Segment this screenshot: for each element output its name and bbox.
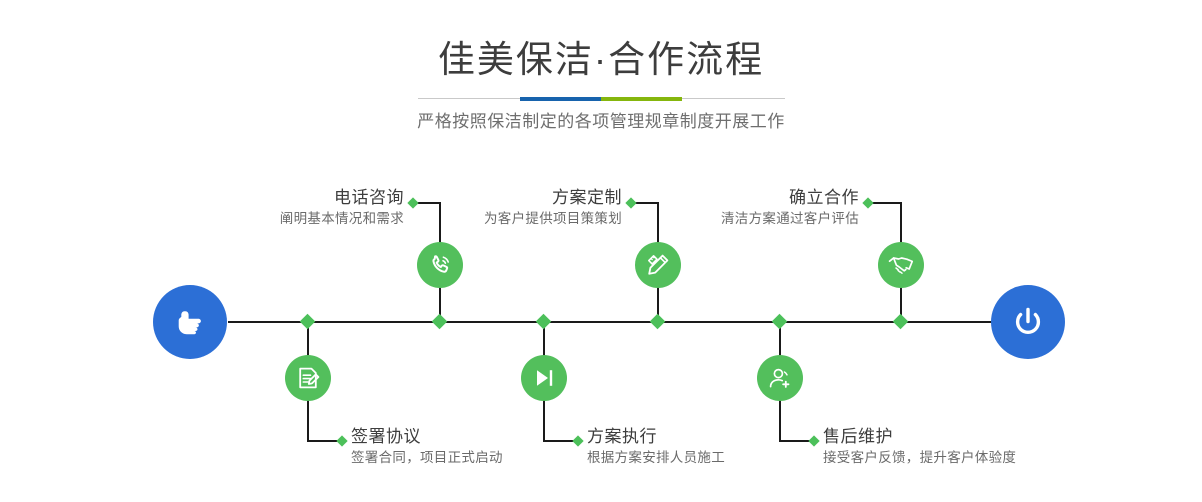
step-icon-2	[285, 355, 331, 401]
label-diamond-1	[407, 197, 418, 208]
step-icon-6	[757, 355, 803, 401]
step-title-2: 签署协议	[351, 426, 503, 447]
axis-diamond-4	[536, 314, 552, 330]
label-diamond-3	[625, 197, 636, 208]
step-title-5: 确立合作	[682, 187, 859, 208]
step-desc-6: 接受客户反馈，提升客户体验度	[823, 449, 1016, 467]
step-icon-1	[417, 242, 463, 288]
step-title-3: 方案定制	[447, 187, 622, 208]
step-desc-3: 为客户提供项目策策划	[447, 210, 622, 228]
timeline-axis	[228, 321, 993, 323]
label-diamond-6	[808, 435, 819, 446]
label-diamond-5	[862, 197, 873, 208]
step-title-4: 方案执行	[587, 426, 725, 447]
step-desc-4: 根据方案安排人员施工	[587, 449, 725, 467]
document-edit-icon	[294, 364, 322, 392]
step-label-4: 方案执行 根据方案安排人员施工	[587, 426, 725, 467]
step-label-1: 电话咨询 阐明基本情况和需求	[229, 187, 404, 228]
axis-diamond-5	[893, 314, 909, 330]
pencil-ruler-icon	[644, 251, 672, 279]
step-desc-2: 签署合同，项目正式启动	[351, 449, 503, 467]
handshake-icon	[887, 251, 915, 279]
step-title-1: 电话咨询	[229, 187, 404, 208]
customer-support-icon	[766, 364, 794, 392]
step-icon-4	[521, 355, 567, 401]
power-icon	[1008, 302, 1048, 342]
axis-diamond-6	[772, 314, 788, 330]
axis-diamond-3	[650, 314, 666, 330]
label-diamond-4	[572, 435, 583, 446]
axis-diamond-1	[432, 314, 448, 330]
timeline: 电话咨询 阐明基本情况和需求	[0, 0, 1202, 502]
step-label-2: 签署协议 签署合同，项目正式启动	[351, 426, 503, 467]
process-flow-page: 佳美保洁·合作流程 严格按照保洁制定的各项管理规章制度开展工作	[0, 0, 1202, 502]
step-label-3: 方案定制 为客户提供项目策策划	[447, 187, 622, 228]
step-icon-5	[878, 242, 924, 288]
step-label-6: 售后维护 接受客户反馈，提升客户体验度	[823, 426, 1016, 467]
step-desc-1: 阐明基本情况和需求	[229, 210, 404, 228]
step-icon-3	[635, 242, 681, 288]
axis-diamond-2	[300, 314, 316, 330]
phone-call-icon	[426, 251, 454, 279]
label-diamond-2	[336, 435, 347, 446]
timeline-start-node	[153, 285, 227, 359]
step-title-6: 售后维护	[823, 426, 1016, 447]
step-label-5: 确立合作 清洁方案通过客户评估	[682, 187, 859, 228]
timeline-end-node	[991, 285, 1065, 359]
step-desc-5: 清洁方案通过客户评估	[682, 210, 859, 228]
play-skip-icon	[530, 364, 558, 392]
pointing-hand-icon	[170, 302, 210, 342]
